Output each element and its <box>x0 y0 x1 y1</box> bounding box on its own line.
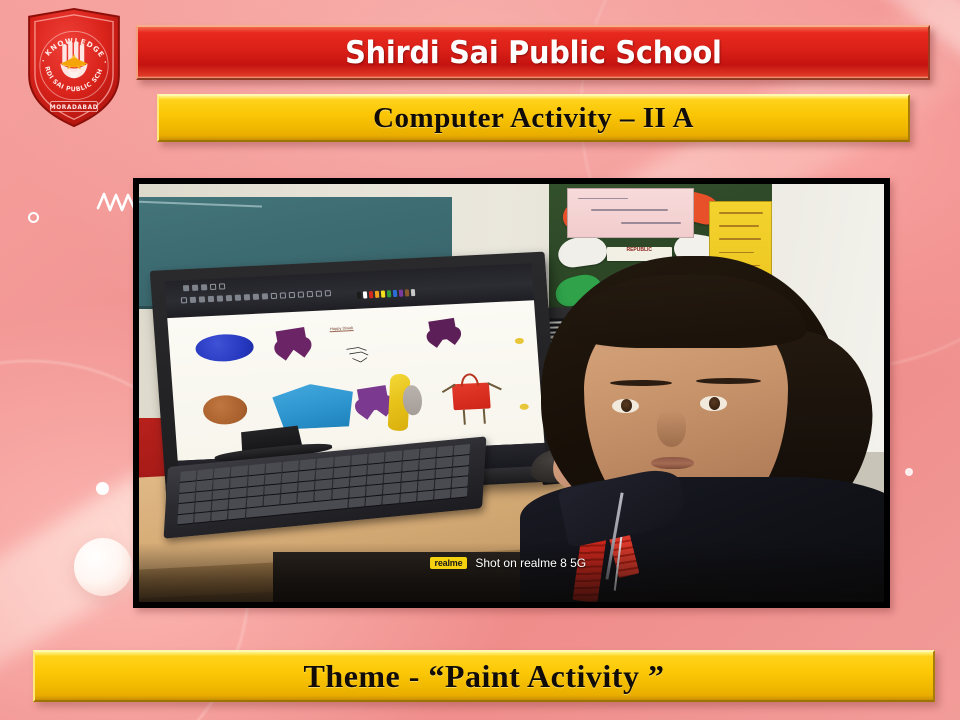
activity-photo: HAPPY REPUBLIC DAY <box>139 184 884 602</box>
paint-scribble-drawing <box>334 344 379 366</box>
paint-shape-blue-ellipse <box>194 333 255 363</box>
svg-text:MORADABAD: MORADABAD <box>50 105 98 111</box>
paint-color-swatch[interactable] <box>374 291 379 298</box>
paint-view-tab-icon[interactable] <box>201 284 207 290</box>
paint-crop-icon[interactable] <box>189 297 195 303</box>
paint-color-swatch[interactable] <box>356 292 361 299</box>
paint-shape-red-bag <box>451 383 490 410</box>
paint-shape-blue-pentagon <box>271 382 355 430</box>
paint-select-icon[interactable] <box>180 298 186 304</box>
school-title-banner: Shirdi Sai Public School <box>136 25 930 80</box>
paint-canvas[interactable]: Happy Diwali <box>167 301 544 461</box>
theme-banner: Theme - “Paint Activity ” <box>33 650 935 702</box>
paint-shapes-icon[interactable] <box>315 291 321 297</box>
paint-brushes-icon[interactable] <box>261 294 267 300</box>
student-nose <box>657 410 686 447</box>
student-eyebrow-right <box>696 378 761 384</box>
paint-resize-icon[interactable] <box>198 297 204 303</box>
paint-eraser-icon[interactable] <box>234 295 240 301</box>
wall-poster-pink <box>567 188 694 238</box>
paint-color-swatch[interactable] <box>410 289 415 296</box>
theme-text: Theme - “Paint Activity ” <box>304 658 665 695</box>
paint-shape-brown-ellipse <box>202 395 248 426</box>
school-title-text: Shirdi Sai Public School <box>345 35 721 71</box>
decorative-ring-dot <box>28 212 39 223</box>
presentation-slide: FAITH · KNOWLEDGE · DUTY SHIRDI SAI PUBL… <box>0 0 960 720</box>
student-eyebrow-left <box>610 380 671 386</box>
activity-photo-frame: HAPPY REPUBLIC DAY <box>133 178 890 608</box>
activity-subtitle-text: Computer Activity – II A <box>373 102 694 135</box>
paint-color-swatch[interactable] <box>404 289 409 296</box>
paint-picker-icon[interactable] <box>243 294 249 300</box>
chalkboard-chalk-mark <box>139 201 262 208</box>
watermark-gradient-strip <box>139 543 884 602</box>
paint-shapes-icon[interactable] <box>279 293 285 299</box>
shot-on-caption: Shot on realme 8 5G <box>475 556 586 570</box>
camera-watermark: realme Shot on realme 8 5G <box>430 556 587 570</box>
paint-shapes-icon[interactable] <box>270 293 276 299</box>
paint-color-swatch[interactable] <box>398 290 403 297</box>
paint-home-tab-icon[interactable] <box>192 285 198 291</box>
student-iris-left <box>621 399 632 412</box>
paint-shapes-icon[interactable] <box>288 292 294 298</box>
paint-color-swatch[interactable] <box>392 290 397 297</box>
student-iris-right <box>709 397 720 410</box>
paint-shape-yellow-dot <box>514 338 523 344</box>
paint-undo-icon[interactable] <box>210 284 216 290</box>
paint-shape-bag-handle <box>460 373 479 387</box>
paint-pencil-icon[interactable] <box>207 296 213 302</box>
paint-shape-yellow-dot <box>519 404 528 410</box>
realme-brand-badge: realme <box>430 557 468 569</box>
paint-fill-icon[interactable] <box>216 296 222 302</box>
paint-color-swatch[interactable] <box>362 291 367 298</box>
paint-color-swatch[interactable] <box>386 290 391 297</box>
student-eye-right <box>700 396 726 410</box>
paint-shape-stick-leg <box>462 410 465 426</box>
student-eye-left <box>612 399 638 413</box>
paint-shape-purple-heart <box>275 328 308 354</box>
paint-shapes-icon[interactable] <box>324 291 330 297</box>
paint-canvas-title: Happy Diwali <box>329 325 353 332</box>
paint-shapes-icon[interactable] <box>306 291 312 297</box>
paint-magnifier-icon[interactable] <box>252 294 258 300</box>
decorative-small-dot <box>905 468 913 476</box>
paint-color-swatch[interactable] <box>368 291 373 298</box>
paint-color-swatch[interactable] <box>380 290 385 297</box>
activity-subtitle-banner: Computer Activity – II A <box>157 94 910 142</box>
paint-file-menu-icon[interactable] <box>183 285 189 291</box>
decorative-sphere <box>74 538 132 596</box>
paint-text-icon[interactable] <box>225 295 231 301</box>
paint-redo-icon[interactable] <box>219 284 225 290</box>
paint-shapes-icon[interactable] <box>297 292 303 298</box>
student-lips <box>651 457 694 470</box>
decorative-solid-dot <box>96 482 109 495</box>
school-crest-logo: FAITH · KNOWLEDGE · DUTY SHIRDI SAI PUBL… <box>25 7 123 128</box>
paint-shape-stick-leg <box>483 409 486 425</box>
hand-with-flame-emblem <box>60 41 87 78</box>
paint-shape-dark-purple-heart <box>427 318 456 342</box>
paint-shape-violet-heart <box>357 385 390 412</box>
